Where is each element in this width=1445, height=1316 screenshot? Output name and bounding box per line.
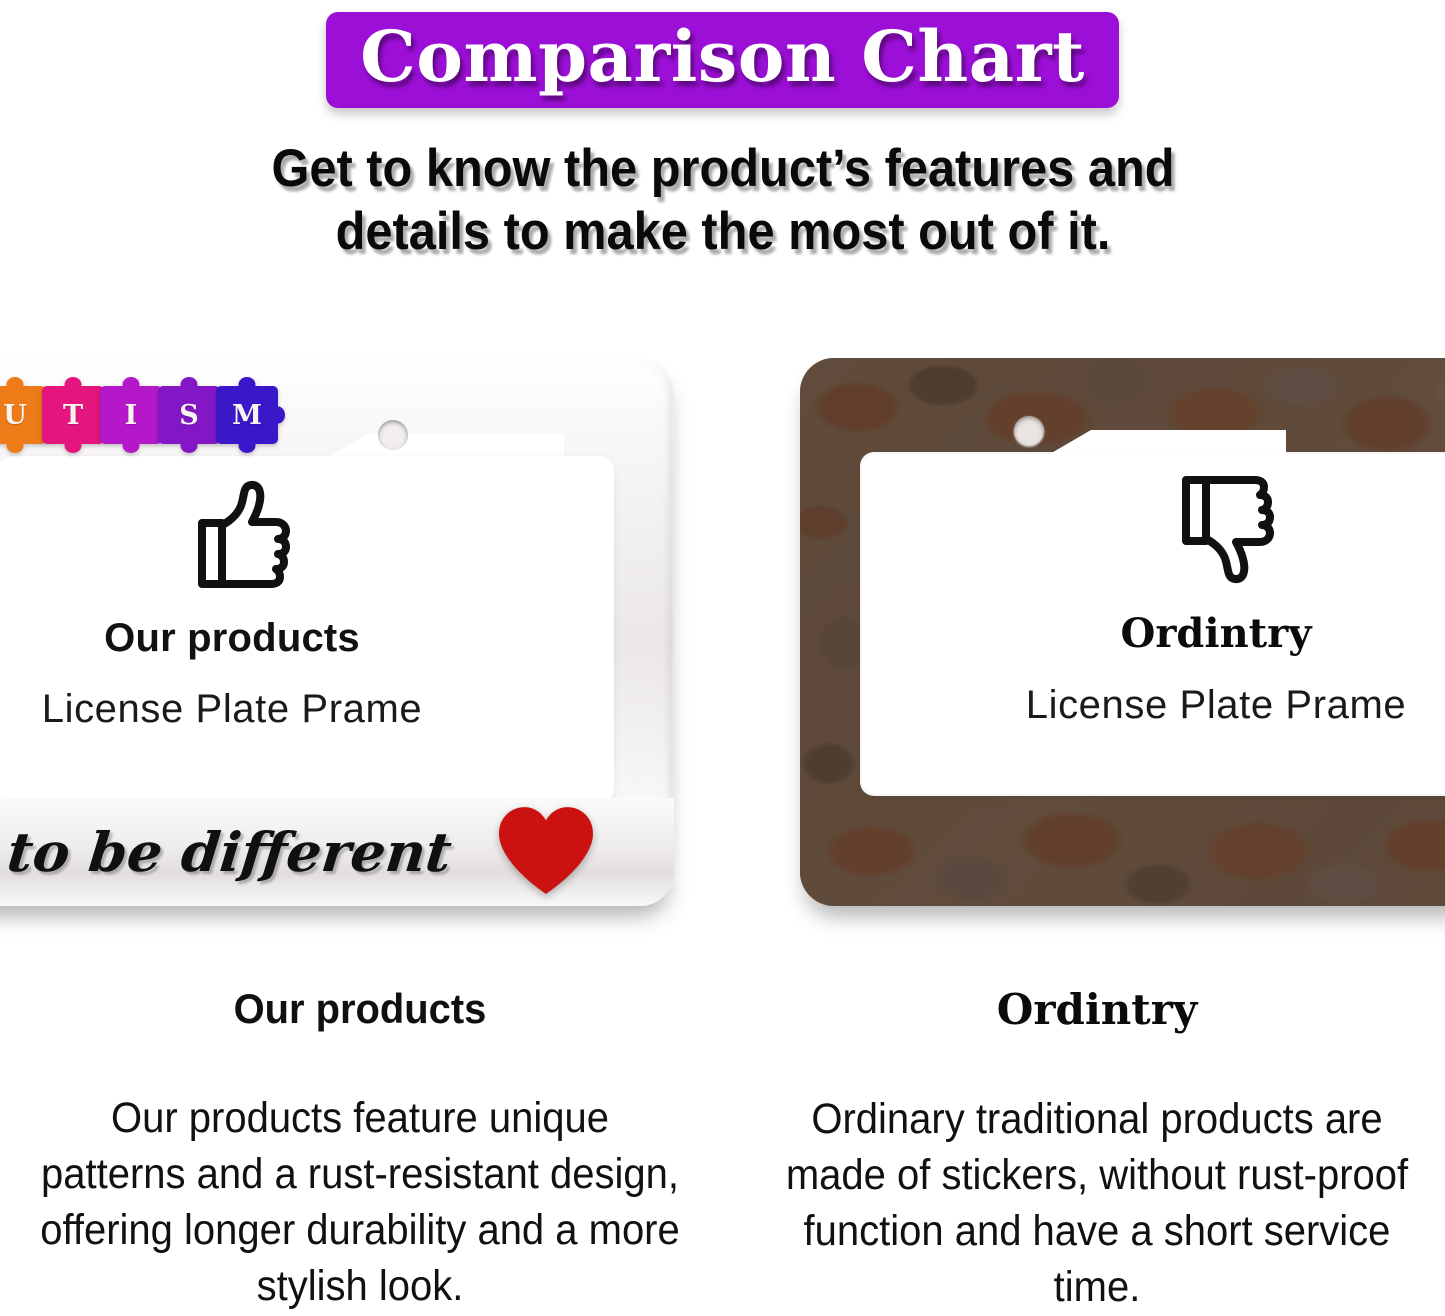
slogan-text: ay to be different	[0, 820, 455, 884]
puzzle-tab-right	[271, 407, 285, 424]
puzzle-letter: T	[63, 400, 83, 431]
mounting-hole	[378, 420, 408, 450]
puzzle-tab-top	[7, 377, 24, 392]
puzzle-tab-bottom	[239, 438, 256, 453]
puzzle-tab-top	[65, 377, 82, 392]
puzzle-letter: S	[179, 400, 199, 431]
heart-icon	[494, 804, 598, 898]
puzzle-tab-top	[239, 377, 256, 392]
puzzle-piece-t: T	[42, 386, 104, 444]
puzzle-tab-bottom	[65, 438, 82, 453]
ordinary-product-plate-content: Ordintry License Plate Prame	[940, 470, 1445, 728]
puzzle-letter: I	[125, 400, 138, 431]
mounting-hole	[1014, 416, 1044, 446]
our-product-plate-frame: A U T I	[0, 358, 674, 906]
ordinary-product-description: Ordinary traditional products are made o…	[776, 1092, 1418, 1316]
our-product-comparison-column: Our products Our products feature unique…	[10, 985, 710, 1315]
puzzle-tab-top	[181, 377, 198, 392]
thumbs-down-icon	[1156, 470, 1276, 588]
our-product-heading: Our products	[28, 985, 693, 1033]
puzzle-piece-u: U	[0, 386, 46, 444]
our-product-description: Our products feature unique patterns and…	[35, 1091, 686, 1315]
ordinary-product-plate-label: Ordintry	[940, 610, 1445, 657]
our-product-plate-label: Our products	[0, 616, 494, 661]
puzzle-tab-bottom	[123, 438, 140, 453]
product-frames-row: A U T I	[0, 358, 1445, 918]
page-subtitle: Get to know the product’s features and d…	[184, 138, 1260, 263]
puzzle-tab-bottom	[181, 438, 198, 453]
puzzle-piece-s: S	[158, 386, 220, 444]
page-header: Comparison Chart Get to know the product…	[0, 0, 1445, 263]
autism-puzzle-strip: A U T I	[0, 386, 274, 444]
puzzle-tab-top	[123, 377, 140, 392]
subtitle-line-1: Get to know the product’s features and	[184, 138, 1260, 201]
puzzle-tab-bottom	[7, 438, 24, 453]
ordinary-product-heading: Ordintry	[752, 985, 1442, 1034]
puzzle-letter: M	[232, 400, 262, 431]
our-product-plate-sub: License Plate Prame	[0, 687, 494, 732]
puzzle-piece-i: I	[100, 386, 162, 444]
puzzle-letter: U	[3, 400, 27, 431]
our-product-plate-content: Our products License Plate Prame	[0, 476, 494, 732]
ordinary-product-plate-sub: License Plate Prame	[940, 683, 1445, 728]
ordinary-product-plate-frame: Ordintry License Plate Prame	[800, 358, 1445, 906]
puzzle-piece-m: M	[216, 386, 278, 444]
title-banner: Comparison Chart	[326, 12, 1119, 108]
subtitle-line-2: details to make the most out of it.	[184, 201, 1260, 264]
page-title: Comparison Chart	[360, 22, 1085, 92]
thumbs-up-icon	[172, 476, 292, 594]
ordinary-product-comparison-column: Ordintry Ordinary traditional products a…	[752, 985, 1442, 1316]
slogan-band: ay to be different	[0, 798, 674, 906]
